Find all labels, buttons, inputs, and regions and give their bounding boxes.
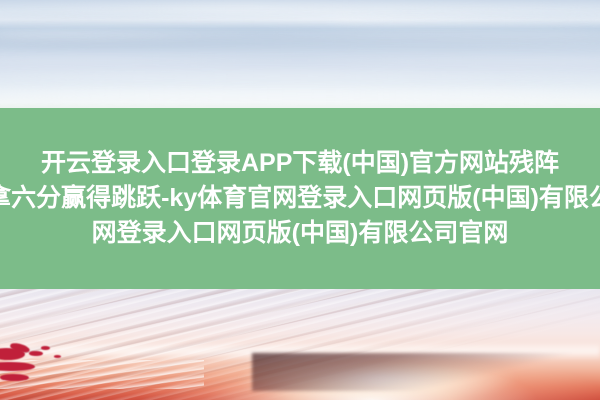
red-splatter-blob bbox=[29, 351, 43, 357]
cloud-band bbox=[0, 55, 600, 66]
sky-photo-top bbox=[0, 0, 600, 110]
green-text-band: 开云登录入口登录APP下载(中国)官方网站残阵 情景连拿六分赢得跳跃-ky体育官… bbox=[0, 108, 600, 289]
dark-ridge bbox=[252, 353, 600, 391]
headline-line-1: 开云登录入口登录APP下载(中国)官方网站残阵 bbox=[41, 146, 559, 181]
red-splatter-blob bbox=[54, 355, 62, 358]
headline-block: 开云登录入口登录APP下载(中国)官方网站残阵 情景连拿六分赢得跳跃-ky体育官… bbox=[0, 108, 600, 289]
headline-line-2: 情景连拿六分赢得跳跃-ky体育官网登录入口网页版(中国)有限公司官网 bbox=[0, 181, 600, 216]
sunset-photo-bottom bbox=[0, 289, 600, 400]
red-splatter-blob bbox=[0, 374, 28, 381]
cloud-band bbox=[0, 72, 600, 81]
red-splatter-blob bbox=[0, 362, 35, 371]
cloud-band bbox=[0, 34, 228, 38]
red-splatter-blob bbox=[41, 346, 50, 350]
banner-image: 开云登录入口登录APP下载(中国)官方网站残阵 情景连拿六分赢得跳跃-ky体育官… bbox=[0, 0, 600, 400]
red-splatter bbox=[0, 338, 144, 396]
cloud-band bbox=[0, 88, 600, 100]
headline-line-3: 网登录入口网页版(中国)有限公司官网 bbox=[92, 216, 509, 251]
cloud-band bbox=[330, 18, 600, 23]
cloud-band bbox=[0, 40, 600, 47]
cloud-band bbox=[0, 2, 600, 14]
